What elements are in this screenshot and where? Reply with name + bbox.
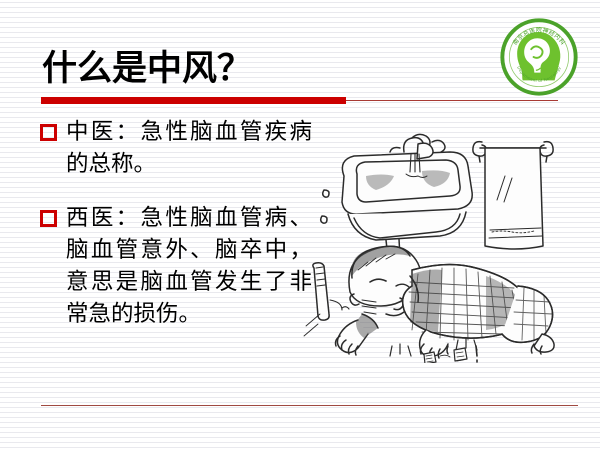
- list-item: 西医：急性脑血管病、脑血管意外、脑卒中，意思是脑血管发生了非常急的损伤。: [40, 202, 312, 330]
- bullet-list: 中医：急性脑血管疾病的总称。 西医：急性脑血管病、脑血管意外、脑卒中，意思是脑血…: [40, 116, 312, 352]
- list-item: 中医：急性脑血管疾病的总称。: [40, 116, 312, 180]
- page-title: 什么是中风？: [42, 48, 252, 90]
- list-item-label: 西医：急性脑血管病、脑血管意外、脑卒中，意思是脑血管发生了非常急的损伤。: [66, 202, 312, 330]
- list-item-label: 中医：急性脑血管疾病的总称。: [66, 116, 312, 180]
- footer-divider: [41, 405, 578, 406]
- hospital-neurology-logo-icon: 南京总医院神经内科 Department of Neurology: [500, 18, 578, 96]
- title-underline-thick: [41, 97, 346, 104]
- square-bullet-icon: [40, 124, 57, 141]
- title-underline-thin: [346, 100, 558, 101]
- person-collapsed-at-sink-illustration: [300, 118, 584, 363]
- square-bullet-icon: [40, 210, 57, 227]
- slide-canvas: 什么是中风？ 中医：急性脑血管疾病的总称。 西医：急性脑血管病、脑血管意外、脑卒…: [0, 0, 600, 450]
